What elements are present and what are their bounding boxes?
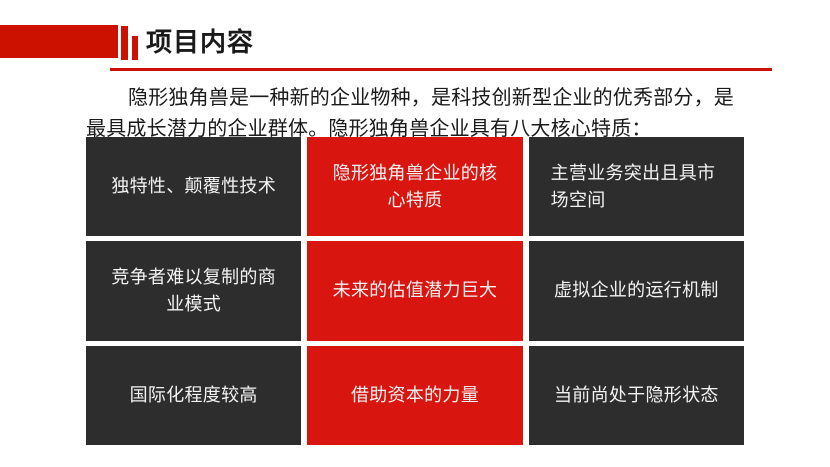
accent-bar-tall-icon (121, 26, 128, 60)
trait-cell-4-label: 竞争者难以复制的商业模式 (108, 264, 279, 318)
trait-cell-4: 竞争者难以复制的商业模式 (86, 241, 301, 340)
trait-cell-2: 隐形独角兽企业的核心特质 (307, 137, 522, 236)
trait-cell-7: 国际化程度较高 (86, 346, 301, 445)
slide-header: 项目内容 (0, 0, 830, 78)
trait-cell-9: 当前尚处于隐形状态 (529, 346, 744, 445)
trait-cell-6: 虚拟企业的运行机制 (529, 241, 744, 340)
trait-cell-5: 未来的估值潜力巨大 (307, 241, 522, 340)
trait-cell-7-label: 国际化程度较高 (130, 382, 258, 409)
header-accent-bars-icon (121, 24, 145, 60)
trait-cell-9-label: 当前尚处于隐形状态 (554, 382, 719, 409)
trait-cell-1: 独特性、颠覆性技术 (86, 137, 301, 236)
trait-cell-1-label: 独特性、颠覆性技术 (111, 173, 276, 200)
traits-grid: 独特性、颠覆性技术 隐形独角兽企业的核心特质 主营业务突出且具市场空间 竞争者难… (86, 137, 744, 445)
trait-cell-5-label: 未来的估值潜力巨大 (333, 277, 498, 304)
slide-canvas: 项目内容 隐形独角兽是一种新的企业物种，是科技创新型企业的优秀部分，是最具成长潜… (0, 0, 830, 467)
page-title: 项目内容 (146, 27, 254, 59)
trait-cell-3-label: 主营业务突出且具市场空间 (551, 160, 722, 214)
header-underline (110, 68, 772, 71)
trait-cell-6-label: 虚拟企业的运行机制 (554, 277, 719, 304)
trait-cell-2-label: 隐形独角兽企业的核心特质 (329, 160, 500, 214)
trait-cell-8-label: 借助资本的力量 (351, 382, 479, 409)
trait-cell-8: 借助资本的力量 (307, 346, 522, 445)
trait-cell-3: 主营业务突出且具市场空间 (529, 137, 744, 236)
accent-bar-short-icon (132, 36, 138, 60)
body-paragraph: 隐形独角兽是一种新的企业物种，是科技创新型企业的优秀部分，是最具成长潜力的企业群… (86, 82, 751, 144)
header-red-block (0, 25, 118, 58)
